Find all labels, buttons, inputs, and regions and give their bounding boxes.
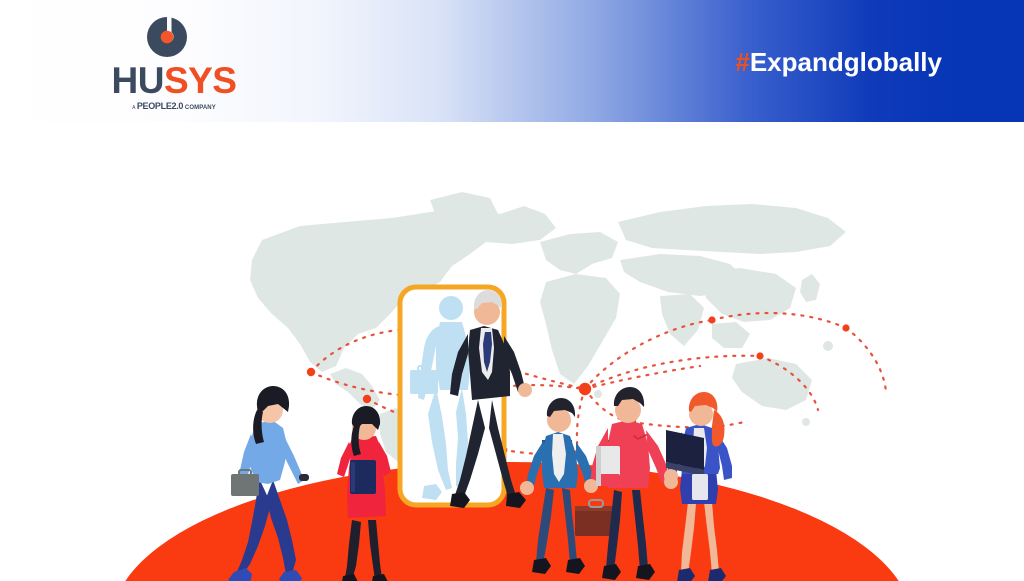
husys-logo[interactable]: HUSYS A PEOPLE2.0 COMPANY — [98, 14, 250, 114]
logo-word-hu: HU — [112, 60, 164, 101]
banner-stage: HUSYS A PEOPLE2.0 COMPANY #Expandgloball… — [0, 0, 1024, 581]
banner-header: HUSYS A PEOPLE2.0 COMPANY #Expandgloball… — [0, 0, 1024, 122]
node-north-asia — [708, 316, 715, 323]
global-expansion-illustration — [0, 122, 1024, 581]
logo-tagline: A PEOPLE2.0 COMPANY — [98, 102, 250, 111]
node-far-east — [842, 324, 849, 331]
logo-tagline-brand: PEOPLE2.0 — [137, 101, 183, 111]
hashtag-text: Expandglobally — [750, 47, 942, 77]
hashtag-expandglobally: #Expandglobally — [735, 49, 942, 75]
node-mid-usa — [363, 395, 371, 403]
node-europe — [579, 383, 591, 395]
node-west-usa — [307, 368, 315, 376]
logo-tagline-suffix: COMPANY — [183, 105, 216, 111]
husys-ring-dot-icon — [144, 14, 190, 60]
logo-word-sys: SYS — [164, 60, 237, 101]
husys-wordmark: HUSYS — [98, 62, 250, 99]
hash-symbol: # — [735, 47, 749, 77]
node-china — [756, 352, 763, 359]
